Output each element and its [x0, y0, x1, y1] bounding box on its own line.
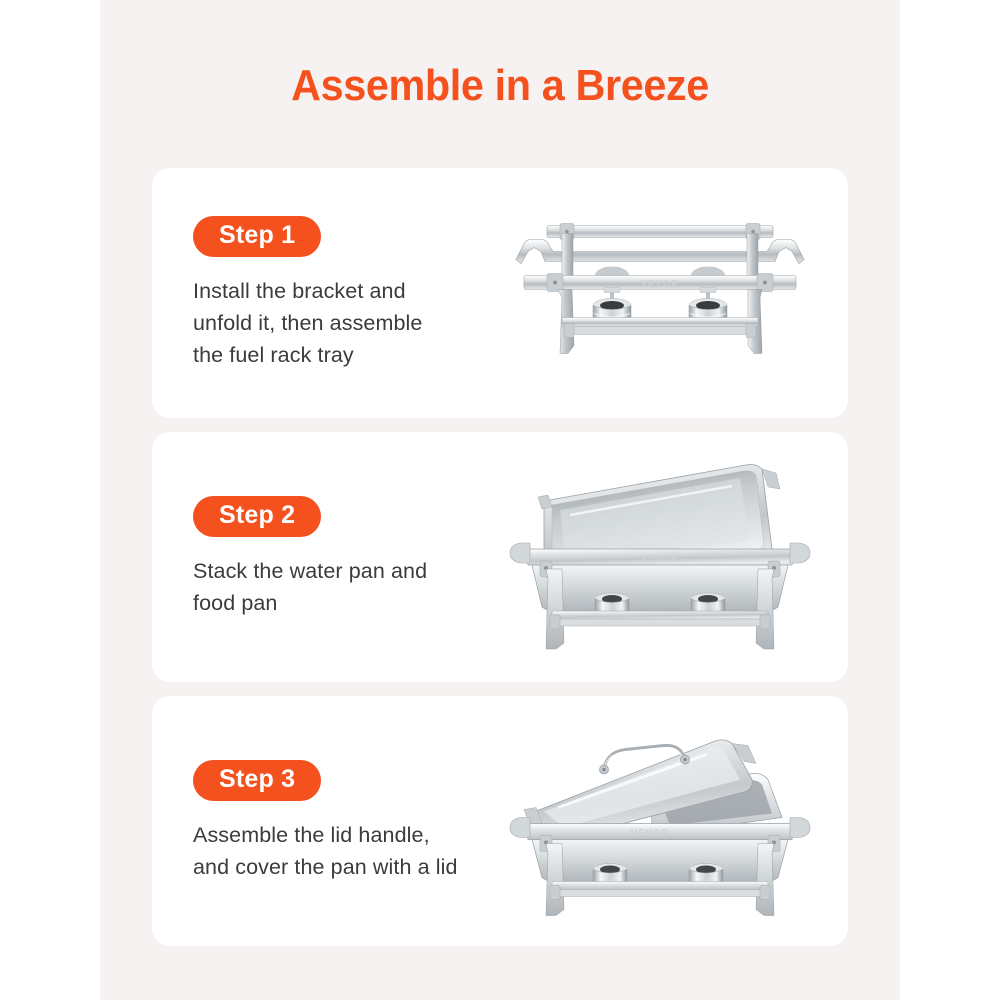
step-card-3[interactable]: Step 3 Assemble the lid handle, and cove… [152, 696, 848, 946]
step-2-image-column: VEVOR [472, 432, 848, 682]
chafing-dish-frame-icon: VEVOR [500, 206, 820, 381]
vevor-brand-mark-step2: VEVOR [641, 553, 680, 563]
step-2-description: Stack the water pan and food pan [193, 555, 472, 619]
step-3-image-column: VEVOR [472, 696, 848, 946]
step-card-1[interactable]: Step 1 Install the bracket and unfold it… [152, 168, 848, 418]
chafing-dish-pans-icon: VEVOR [500, 457, 820, 657]
page-title: Assemble in a Breeze [124, 58, 876, 114]
step-3-description: Assemble the lid handle, and cover the p… [193, 819, 472, 883]
step-1-description: Install the bracket and unfold it, then … [193, 275, 472, 371]
step-1-image-column: VEVOR [472, 168, 848, 418]
step-card-2[interactable]: Step 2 Stack the water pan and food pan [152, 432, 848, 682]
vevor-brand-mark-step3: VEVOR [631, 828, 670, 838]
step-3-badge: Step 3 [193, 760, 321, 801]
step-1-badge: Step 1 [193, 216, 321, 257]
product-feature-page: Assemble in a Breeze Step 1 Install the … [0, 0, 1000, 1000]
step-1-text-column: Step 1 Install the bracket and unfold it… [152, 216, 472, 371]
step-3-text-column: Step 3 Assemble the lid handle, and cove… [152, 760, 472, 883]
step-2-badge: Step 2 [193, 496, 321, 537]
step-2-text-column: Step 2 Stack the water pan and food pan [152, 496, 472, 619]
vevor-brand-mark-step1: VEVOR [641, 279, 680, 289]
chafing-dish-lid-icon: VEVOR [500, 724, 820, 919]
